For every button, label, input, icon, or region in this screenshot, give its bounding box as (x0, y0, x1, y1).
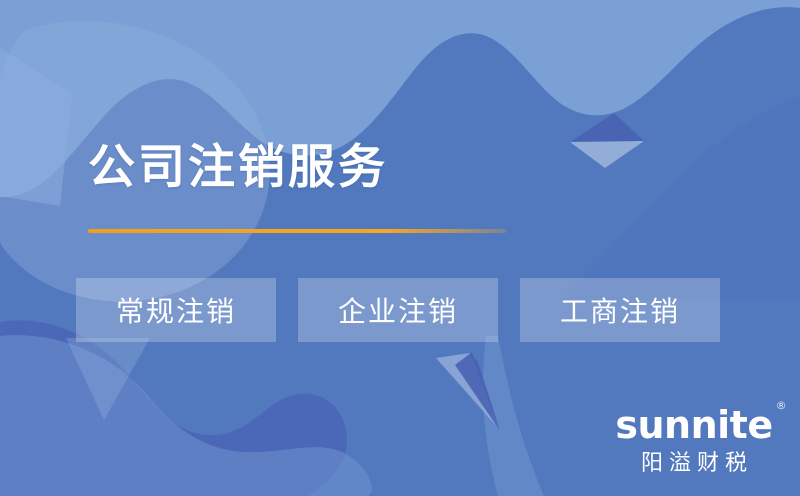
tag-business-deregistration[interactable]: 工商注销 (520, 278, 720, 342)
brand-wordmark: sunnite ® (615, 406, 772, 444)
tag-label: 企业注销 (338, 290, 458, 330)
banner-content: 公司注销服务 常规注销 企业注销 工商注销 sunnite ® 阳溢财税 (0, 0, 800, 496)
tag-label: 工商注销 (560, 290, 680, 330)
brand-logo: sunnite ® 阳溢财税 (614, 406, 774, 474)
registered-trademark-icon: ® (776, 400, 787, 411)
tag-regular-deregistration[interactable]: 常规注销 (76, 278, 276, 342)
banner-root: 公司注销服务 常规注销 企业注销 工商注销 sunnite ® 阳溢财税 (0, 0, 800, 496)
brand-wordmark-text: sunnite (615, 403, 772, 447)
tag-label: 常规注销 (116, 290, 236, 330)
tag-enterprise-deregistration[interactable]: 企业注销 (298, 278, 498, 342)
title-underline-accent (88, 229, 506, 233)
service-tag-list: 常规注销 企业注销 工商注销 (76, 278, 720, 342)
page-title: 公司注销服务 (88, 143, 388, 190)
brand-chinese-name: 阳溢财税 (614, 452, 774, 474)
